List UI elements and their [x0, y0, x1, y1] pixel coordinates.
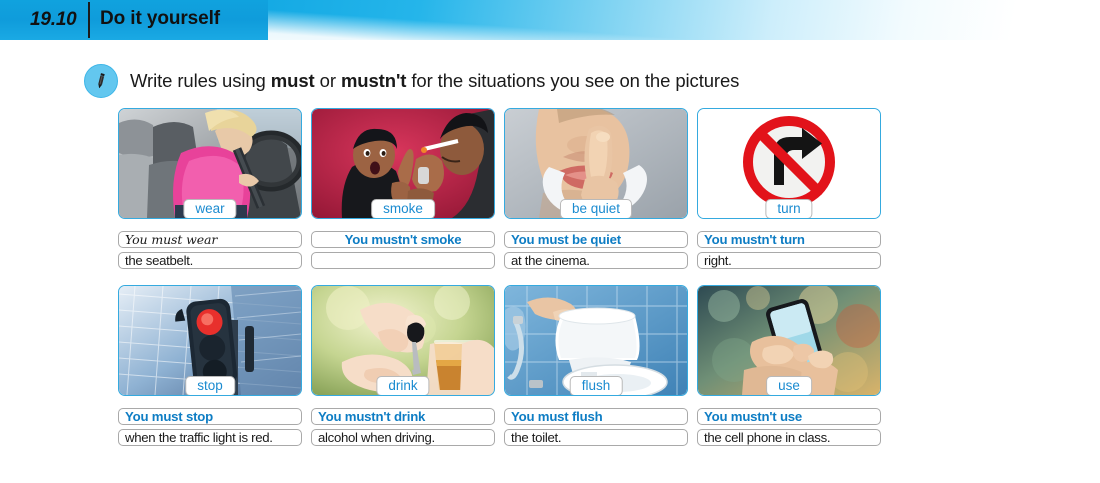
exercise-cell-drink: drink You mustn't drink alcohol when dri…: [311, 285, 495, 450]
worksheet-page: 19.10 Do it yourself Write rules using m…: [0, 0, 1100, 483]
instruction-bar: Write rules using must or mustn't for th…: [84, 64, 739, 98]
answer-lines-wear: You must wear the seatbelt.: [118, 231, 302, 269]
answer-lines-smoke: You mustn't smoke: [311, 231, 495, 269]
answer-line-1-turn[interactable]: You mustn't turn: [697, 231, 881, 248]
answer-lines-turn: You mustn't turn right.: [697, 231, 881, 269]
picture-row-1: wear You must wear the seatbelt.: [118, 108, 1078, 273]
answer-line-2-be-quiet[interactable]: at the cinema.: [504, 252, 688, 269]
instruction-text-after: for the situations you see on the pictur…: [406, 70, 739, 91]
instruction-keyword-mustnt: mustn't: [341, 70, 406, 91]
picture-label-smoke: smoke: [371, 199, 435, 219]
answer-lines-stop: You must stop when the traffic light is …: [118, 408, 302, 446]
exercise-cell-turn: turn You mustn't turn right.: [697, 108, 881, 273]
picture-label-stop: stop: [185, 376, 235, 396]
picture-label-wear: wear: [183, 199, 236, 219]
picture-card-flush[interactable]: flush: [504, 285, 688, 396]
picture-card-stop[interactable]: stop: [118, 285, 302, 396]
pencil-icon: [84, 64, 118, 98]
picture-card-wear[interactable]: wear: [118, 108, 302, 219]
picture-label-use: use: [766, 376, 812, 396]
answer-line-2-turn[interactable]: right.: [697, 252, 881, 269]
instruction-text: Write rules using must or mustn't for th…: [130, 70, 739, 92]
page-title: Do it yourself: [100, 8, 220, 30]
answer-line-1-flush[interactable]: You must flush: [504, 408, 688, 425]
picture-card-be-quiet[interactable]: be quiet: [504, 108, 688, 219]
exercise-cell-flush: flush You must flush the toilet.: [504, 285, 688, 450]
picture-card-use[interactable]: use: [697, 285, 881, 396]
answer-line-1-smoke[interactable]: You mustn't smoke: [311, 231, 495, 248]
answer-line-2-flush[interactable]: the toilet.: [504, 429, 688, 446]
answer-line-2-stop[interactable]: when the traffic light is red.: [118, 429, 302, 446]
answer-line-1-stop[interactable]: You must stop: [118, 408, 302, 425]
exercise-cell-use: use You mustn't use the cell phone in cl…: [697, 285, 881, 450]
picture-card-drink[interactable]: drink: [311, 285, 495, 396]
page-header: 19.10 Do it yourself: [0, 0, 1100, 40]
picture-card-turn[interactable]: turn: [697, 108, 881, 219]
exercise-row-1: wear You must wear the seatbelt.: [118, 108, 1078, 273]
answer-line-1-use[interactable]: You mustn't use: [697, 408, 881, 425]
exercise-cell-smoke: smoke You mustn't smoke: [311, 108, 495, 273]
answer-line-2-drink[interactable]: alcohol when driving.: [311, 429, 495, 446]
picture-label-flush: flush: [570, 376, 623, 396]
instruction-text-middle: or: [315, 70, 341, 91]
section-number: 19.10: [30, 9, 77, 31]
answer-lines-be-quiet: You must be quiet at the cinema.: [504, 231, 688, 269]
answer-lines-flush: You must flush the toilet.: [504, 408, 688, 446]
instruction-text-before: Write rules using: [130, 70, 271, 91]
answer-line-2-use[interactable]: the cell phone in class.: [697, 429, 881, 446]
answer-line-1-wear[interactable]: You must wear: [118, 231, 302, 248]
exercise-cell-stop: stop You must stop when the traffic ligh…: [118, 285, 302, 450]
answer-lines-use: You mustn't use the cell phone in class.: [697, 408, 881, 446]
answer-line-2-smoke[interactable]: [311, 252, 495, 269]
answer-line-2-wear[interactable]: the seatbelt.: [118, 252, 302, 269]
picture-label-turn: turn: [765, 199, 812, 219]
exercise-row-2: stop You must stop when the traffic ligh…: [118, 285, 1078, 450]
exercise-cell-wear: wear You must wear the seatbelt.: [118, 108, 302, 273]
instruction-keyword-must: must: [271, 70, 315, 91]
answer-line-1-be-quiet[interactable]: You must be quiet: [504, 231, 688, 248]
picture-card-smoke[interactable]: smoke: [311, 108, 495, 219]
picture-row-2: stop You must stop when the traffic ligh…: [118, 285, 1078, 450]
answer-lines-drink: You mustn't drink alcohol when driving.: [311, 408, 495, 446]
picture-label-be-quiet: be quiet: [560, 199, 632, 219]
exercise-grid: wear You must wear the seatbelt.: [118, 108, 1078, 450]
header-divider: [88, 2, 90, 38]
exercise-cell-be-quiet: be quiet You must be quiet at the cinema…: [504, 108, 688, 273]
picture-label-drink: drink: [376, 376, 429, 396]
answer-line-1-drink[interactable]: You mustn't drink: [311, 408, 495, 425]
